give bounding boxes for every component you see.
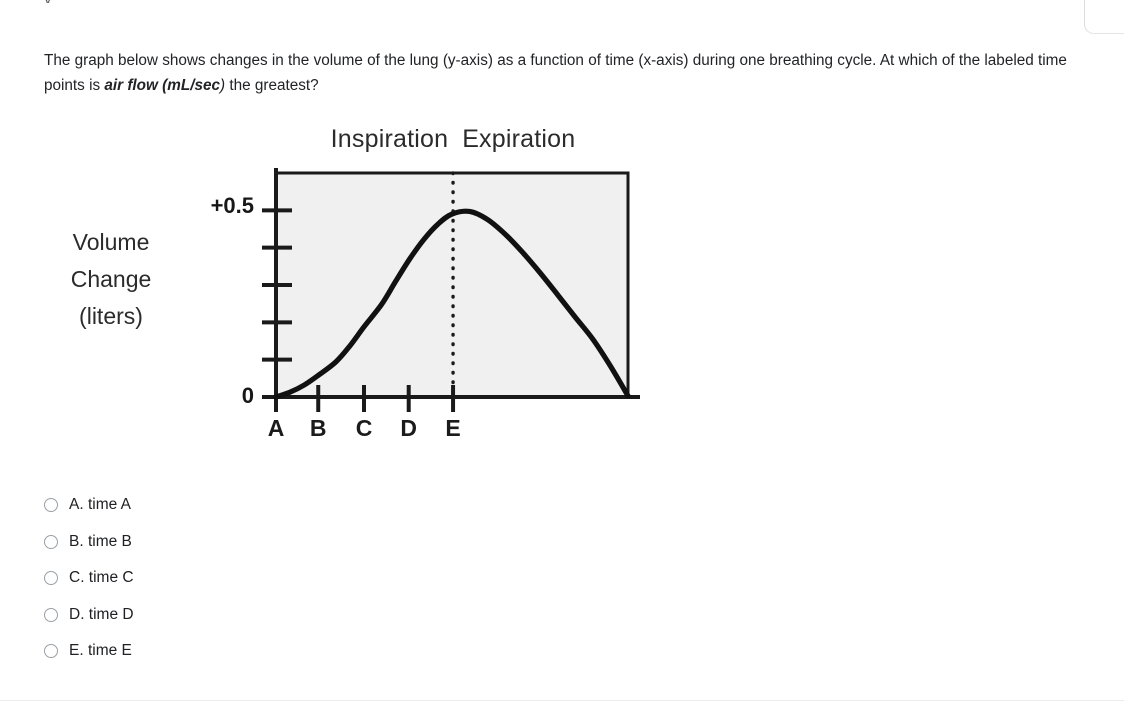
- option-row-a[interactable]: A. time A: [44, 487, 464, 524]
- radio-button-b[interactable]: [44, 535, 58, 549]
- option-row-c[interactable]: C. time C: [44, 560, 464, 597]
- question-text-after: the greatest?: [225, 77, 319, 94]
- radio-button-a[interactable]: [44, 498, 58, 512]
- x-tick-label-A: A: [268, 415, 285, 442]
- option-label-e: E. time E: [69, 642, 132, 660]
- option-label-b: B. time B: [69, 533, 132, 551]
- bottom-divider: [0, 700, 1124, 701]
- clipped-text-above: y: [44, 0, 1044, 3]
- option-row-e[interactable]: E. time E: [44, 633, 464, 670]
- question-stem: The graph below shows changes in the vol…: [44, 48, 1086, 98]
- x-tick-labels: ABCDE: [0, 415, 700, 445]
- x-tick-label-E: E: [445, 415, 460, 442]
- lung-volume-figure: InspirationExpiration Volume Change (lit…: [0, 110, 700, 460]
- option-row-b[interactable]: B. time B: [44, 524, 464, 561]
- plot-svg: [0, 110, 700, 460]
- radio-button-d[interactable]: [44, 608, 58, 622]
- answer-options: A. time AB. time BC. time CD. time DE. t…: [44, 487, 464, 670]
- radio-button-e[interactable]: [44, 644, 58, 658]
- x-tick-label-B: B: [310, 415, 327, 442]
- option-row-d[interactable]: D. time D: [44, 597, 464, 634]
- x-tick-label-D: D: [400, 415, 417, 442]
- option-label-d: D. time D: [69, 606, 134, 624]
- option-label-c: C. time C: [69, 569, 134, 587]
- question-emphasis: air flow (mL/sec: [104, 77, 220, 94]
- option-label-a: A. time A: [69, 496, 131, 514]
- page-panel-corner: [1084, 0, 1124, 34]
- x-tick-label-C: C: [356, 415, 373, 442]
- radio-button-c[interactable]: [44, 571, 58, 585]
